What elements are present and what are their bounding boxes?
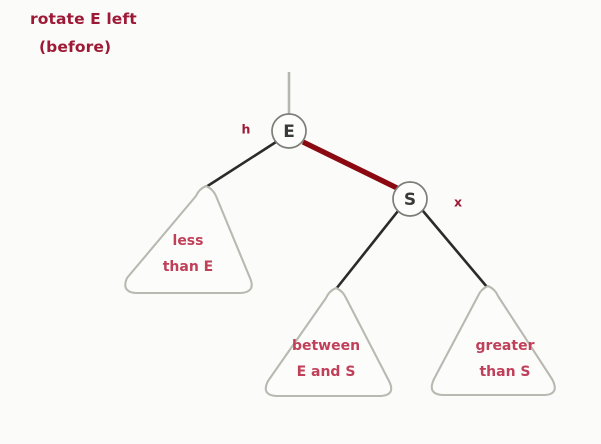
diagram-canvas: rotate E left (before) E S h x less than… <box>0 0 601 444</box>
edge-s-to-greater <box>423 211 487 287</box>
bst-rotation-diagram: E S h x less than E between E and S grea… <box>0 0 601 444</box>
edge-label-h: h <box>242 122 251 137</box>
subtree-greater-line2: than S <box>479 364 530 380</box>
edge-e-to-s-highlighted <box>303 142 397 188</box>
subtree-greater-line1: greater <box>476 338 535 354</box>
subtree-less-than-e-line1: less <box>173 233 204 249</box>
subtree-between-line2: E and S <box>297 364 356 380</box>
subtree-between-line1: between <box>292 338 360 354</box>
node-e-label: E <box>283 122 295 142</box>
edge-label-x: x <box>454 195 462 210</box>
edge-e-to-less-than-e <box>206 142 276 187</box>
edge-s-to-between <box>336 211 398 289</box>
subtree-less-than-e-line2: than E <box>163 259 214 275</box>
node-s-label: S <box>404 190 416 210</box>
